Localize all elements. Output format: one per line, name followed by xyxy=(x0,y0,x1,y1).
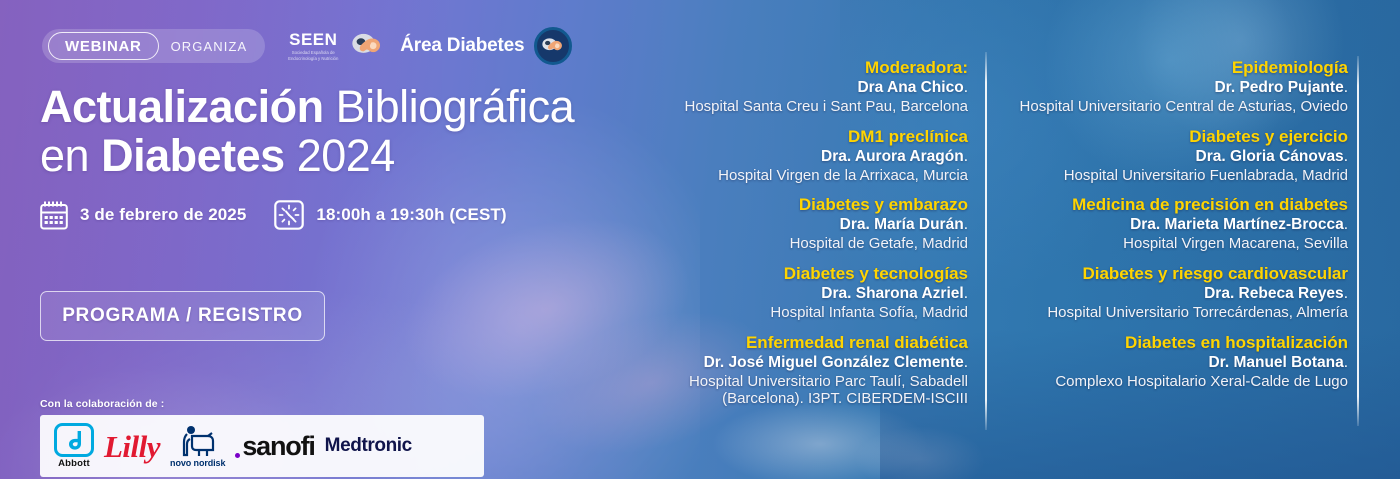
sponsor-logo-strip: Abbott Lilly novo nordisk sanofi Me xyxy=(40,415,484,477)
title-line2-year: 2024 xyxy=(297,130,395,181)
program-entry-speaker: Dra. Rebeca Reyes. xyxy=(1000,285,1348,304)
speaker-period: . xyxy=(964,79,968,96)
title-line2-prefix: en xyxy=(40,130,89,181)
program-entry-affiliation: Hospital Santa Creu i Sant Pau, Barcelon… xyxy=(620,98,968,116)
program-entry: Enfermedad renal diabéticaDr. José Migue… xyxy=(620,333,968,408)
speaker-period: . xyxy=(1344,354,1348,371)
medtronic-wordmark: Medtronic xyxy=(325,435,412,457)
column-divider-left xyxy=(985,52,987,430)
program-entry-speaker: Dra. Marieta Martínez-Brocca. xyxy=(1000,216,1348,235)
abbott-wordmark: Abbott xyxy=(58,458,90,469)
event-time-item: 18:00h a 19:30h (CEST) xyxy=(274,200,506,230)
speaker-period: . xyxy=(1344,285,1348,302)
header-badge-row: WEBINAR ORGANIZA SEEN Sociedad Española … xyxy=(42,27,572,65)
seen-subtitle: Sociedad Española de Endocrinología y Nu… xyxy=(281,50,345,61)
programa-registro-button[interactable]: PROGRAMA / REGISTRO xyxy=(40,291,325,341)
program-entry-speaker: Dr. Manuel Botana. xyxy=(1000,354,1348,373)
title-line2-bold: Diabetes xyxy=(101,130,285,181)
program-entry-topic: Epidemiología xyxy=(1000,58,1348,78)
sponsor-novo-nordisk: novo nordisk xyxy=(170,425,225,468)
sanofi-text: sanofi xyxy=(242,431,314,461)
area-diabetes-icon xyxy=(534,27,572,65)
program-entry-topic: Diabetes y embarazo xyxy=(620,195,968,215)
sanofi-dot-icon xyxy=(235,453,240,458)
seen-thyroid-icon xyxy=(348,31,386,61)
webinar-banner: WEBINAR ORGANIZA SEEN Sociedad Española … xyxy=(0,0,1400,479)
program-entry-affiliation: Hospital Universitario Fuenlabrada, Madr… xyxy=(1000,167,1348,185)
program-entry-affiliation: Complexo Hospitalario Xeral-Calde de Lug… xyxy=(1000,373,1348,391)
sponsor-abbott: Abbott xyxy=(54,423,94,469)
program-entry: Diabetes y tecnologíasDra. Sharona Azrie… xyxy=(620,264,968,322)
page-title: Actualización Bibliográfica en Diabetes … xyxy=(40,84,640,179)
speaker-period: . xyxy=(964,216,968,233)
area-diabetes-label: Área Diabetes xyxy=(400,35,524,57)
collaboration-block: Con la colaboración de : Abbott Lilly xyxy=(40,398,484,477)
program-entry-speaker: Dra. Aurora Aragón. xyxy=(620,148,968,167)
area-thyroid-icon xyxy=(540,35,566,57)
program-entry-topic: Moderadora: xyxy=(620,58,968,78)
event-date-label: 3 de febrero de 2025 xyxy=(80,205,246,225)
title-line1-bold: Actualización xyxy=(40,81,324,132)
program-entry-speaker: Dra Ana Chico. xyxy=(620,79,968,98)
speaker-period: . xyxy=(964,285,968,302)
program-column-right: EpidemiologíaDr. Pedro Pujante.Hospital … xyxy=(1000,58,1348,390)
title-line2: en Diabetes 2024 xyxy=(40,133,640,179)
program-entry-speaker: Dra. Sharona Azriel. xyxy=(620,285,968,304)
sponsor-sanofi: sanofi xyxy=(235,433,314,460)
seen-logo-text: SEEN Sociedad Española de Endocrinología… xyxy=(281,31,345,61)
program-entry-topic: Diabetes y tecnologías xyxy=(620,264,968,284)
webinar-badge: WEBINAR xyxy=(48,32,159,60)
program-entry-speaker: Dra. María Durán. xyxy=(620,216,968,235)
event-time-label: 18:00h a 19:30h (CEST) xyxy=(316,205,506,225)
collaboration-label: Con la colaboración de : xyxy=(40,398,484,410)
program-entry-speaker: Dra. Gloria Cánovas. xyxy=(1000,148,1348,167)
sponsor-medtronic: Medtronic xyxy=(325,435,412,457)
speaker-period: . xyxy=(964,354,968,371)
sponsor-lilly: Lilly xyxy=(104,431,160,462)
abbott-icon xyxy=(54,423,94,457)
program-entry-speaker: Dr. Pedro Pujante. xyxy=(1000,79,1348,98)
program-entry-affiliation: Hospital Universitario Central de Asturi… xyxy=(1000,98,1348,116)
program-entry-affiliation: Hospital Universitario Torrecárdenas, Al… xyxy=(1000,304,1348,322)
program-entry-topic: Diabetes y riesgo cardiovascular xyxy=(1000,264,1348,284)
program-entry-affiliation: Hospital de Getafe, Madrid xyxy=(620,235,968,253)
program-entry: Diabetes y embarazoDra. María Durán.Hosp… xyxy=(620,195,968,253)
program-entry-topic: Enfermedad renal diabética xyxy=(620,333,968,353)
speaker-period: . xyxy=(964,148,968,165)
program-column-middle: Moderadora:Dra Ana Chico.Hospital Santa … xyxy=(620,58,968,408)
lilly-wordmark: Lilly xyxy=(104,431,160,462)
speaker-period: . xyxy=(1344,79,1348,96)
program-entry-topic: Diabetes y ejercicio xyxy=(1000,127,1348,147)
column-divider-right xyxy=(1357,56,1359,426)
clock-icon xyxy=(274,200,304,230)
program-entry-affiliation: Hospital Virgen de la Arrixaca, Murcia xyxy=(620,167,968,185)
program-entry: Medicina de precisión en diabetesDra. Ma… xyxy=(1000,195,1348,253)
program-entry-topic: Medicina de precisión en diabetes xyxy=(1000,195,1348,215)
title-line1-light: Bibliográfica xyxy=(336,81,575,132)
program-entry-speaker: Dr. José Miguel González Clemente. xyxy=(620,354,968,373)
speaker-period: . xyxy=(1344,148,1348,165)
program-entry-affiliation: Hospital Universitario Parc Taulí, Sabad… xyxy=(620,373,968,408)
program-entry-topic: DM1 preclínica xyxy=(620,127,968,147)
calendar-icon xyxy=(40,200,68,230)
sanofi-wordmark: sanofi xyxy=(235,433,314,460)
event-date-item: 3 de febrero de 2025 xyxy=(40,200,246,230)
program-entry-affiliation: Hospital Virgen Macarena, Sevilla xyxy=(1000,235,1348,253)
novo-nordisk-bull-icon xyxy=(178,425,218,457)
program-entry-topic: Diabetes en hospitalización xyxy=(1000,333,1348,353)
seen-logo: SEEN Sociedad Española de Endocrinología… xyxy=(281,31,386,61)
program-entry: Diabetes y ejercicioDra. Gloria Cánovas.… xyxy=(1000,127,1348,185)
novo-nordisk-wordmark: novo nordisk xyxy=(170,458,225,468)
program-entry: Moderadora:Dra Ana Chico.Hospital Santa … xyxy=(620,58,968,116)
program-entry: EpidemiologíaDr. Pedro Pujante.Hospital … xyxy=(1000,58,1348,116)
seen-wordmark: SEEN xyxy=(289,31,337,48)
program-entry: DM1 preclínicaDra. Aurora Aragón.Hospita… xyxy=(620,127,968,185)
program-entry-affiliation: Hospital Infanta Sofía, Madrid xyxy=(620,304,968,322)
organiza-label: ORGANIZA xyxy=(171,39,248,54)
program-entry: Diabetes y riesgo cardiovascularDra. Reb… xyxy=(1000,264,1348,322)
program-entry: Diabetes en hospitalizaciónDr. Manuel Bo… xyxy=(1000,333,1348,391)
event-meta-row: 3 de febrero de 2025 xyxy=(40,200,507,230)
speaker-period: . xyxy=(1344,216,1348,233)
webinar-organiza-pill: WEBINAR ORGANIZA xyxy=(42,29,265,63)
